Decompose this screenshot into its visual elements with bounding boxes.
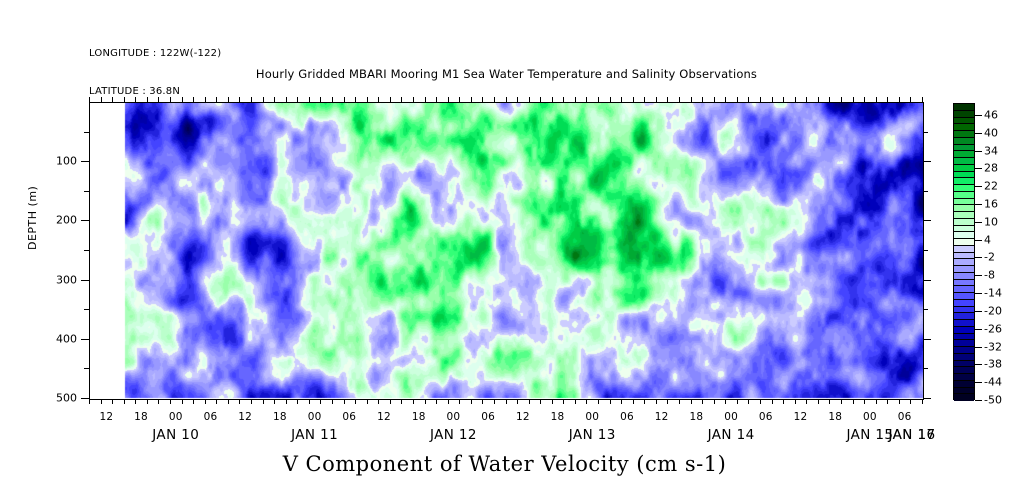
x-tick-bottom bbox=[598, 399, 599, 404]
x-tick-top bbox=[297, 97, 298, 102]
x-tick-bottom bbox=[552, 399, 553, 404]
x-tick-bottom bbox=[425, 399, 426, 404]
x-tick-top bbox=[482, 97, 483, 102]
colorbar-tick bbox=[975, 257, 982, 258]
latitude-text: LATITUDE : 36.8N bbox=[89, 86, 221, 99]
x-tick-top bbox=[818, 97, 819, 102]
x-axis-hour-label: 12 bbox=[99, 411, 113, 423]
x-tick-top bbox=[772, 97, 773, 102]
x-tick-bottom bbox=[448, 399, 449, 404]
x-tick-bottom bbox=[413, 399, 414, 404]
colorbar-band bbox=[954, 192, 974, 199]
y-tick-right bbox=[923, 161, 931, 162]
x-tick-top bbox=[853, 97, 854, 102]
colorbar-tick-label: -50 bbox=[984, 394, 1002, 407]
x-tick-top bbox=[239, 97, 240, 102]
depth-axis-label: 500 bbox=[0, 392, 77, 405]
colorbar-tick bbox=[975, 204, 982, 205]
colorbar-tick-label: -20 bbox=[984, 305, 1002, 318]
x-tick-top bbox=[760, 97, 761, 102]
x-tick-top bbox=[691, 97, 692, 102]
x-tick-bottom bbox=[679, 399, 680, 404]
x-tick-bottom bbox=[320, 399, 321, 404]
x-axis-hour-label: 00 bbox=[863, 411, 877, 423]
colorbar-tick bbox=[975, 186, 982, 187]
colorbar-band bbox=[954, 253, 974, 260]
y-tick-left bbox=[81, 339, 89, 340]
x-axis-hour-label: 12 bbox=[794, 411, 808, 423]
y-tick-left bbox=[84, 132, 89, 133]
x-tick-top bbox=[170, 97, 171, 102]
x-tick-top bbox=[367, 97, 368, 102]
colorbar-tick-label: -8 bbox=[984, 269, 995, 282]
x-tick-top bbox=[251, 97, 252, 102]
x-tick-top bbox=[586, 97, 587, 102]
x-tick-bottom bbox=[748, 399, 749, 404]
x-tick-bottom bbox=[656, 399, 657, 404]
x-tick-bottom bbox=[274, 399, 275, 404]
x-axis-date-label: JAN 11 bbox=[291, 427, 338, 443]
colorbar-band bbox=[954, 226, 974, 233]
x-tick-bottom bbox=[795, 399, 796, 404]
colorbar-tick-label: 22 bbox=[984, 180, 998, 193]
x-tick-top bbox=[459, 97, 460, 102]
x-axis-hour-label: 12 bbox=[516, 411, 530, 423]
x-tick-top bbox=[309, 97, 310, 102]
x-tick-bottom bbox=[529, 399, 530, 404]
x-tick-bottom bbox=[239, 399, 240, 404]
colorbar-tick-label: 34 bbox=[984, 145, 998, 158]
x-tick-bottom bbox=[829, 399, 830, 404]
plot-title-text: Hourly Gridded MBARI Mooring M1 Sea Wate… bbox=[256, 67, 757, 81]
x-tick-top bbox=[320, 97, 321, 102]
x-tick-top bbox=[228, 97, 229, 102]
colorbar-tick-label: -2 bbox=[984, 251, 995, 264]
colorbar-band bbox=[954, 347, 974, 354]
x-tick-bottom bbox=[876, 399, 877, 404]
x-tick-top bbox=[494, 97, 495, 102]
x-tick-bottom bbox=[124, 399, 125, 404]
colorbar-band bbox=[954, 131, 974, 138]
colorbar-tick-label: -38 bbox=[984, 358, 1002, 371]
x-tick-top bbox=[263, 97, 264, 102]
colorbar-band bbox=[954, 300, 974, 307]
x-axis-hour-label: 06 bbox=[620, 411, 634, 423]
colorbar-tick-label: 46 bbox=[984, 109, 998, 122]
x-tick-top bbox=[737, 97, 738, 102]
x-tick-bottom bbox=[297, 399, 298, 404]
x-tick-top bbox=[667, 97, 668, 102]
x-tick-bottom bbox=[864, 399, 865, 404]
colorbar-band bbox=[954, 118, 974, 125]
x-tick-bottom bbox=[563, 399, 564, 404]
x-tick-bottom bbox=[193, 399, 194, 404]
x-tick-top bbox=[378, 97, 379, 102]
x-tick-top bbox=[89, 97, 90, 102]
x-axis-date-label: JAN 14 bbox=[708, 427, 755, 443]
x-tick-top bbox=[621, 97, 622, 102]
x-tick-top bbox=[899, 97, 900, 102]
x-tick-top bbox=[575, 97, 576, 102]
x-tick-top bbox=[806, 97, 807, 102]
x-axis-hour-label: 00 bbox=[585, 411, 599, 423]
x-tick-top bbox=[413, 97, 414, 102]
colorbar-tick-label: -14 bbox=[984, 287, 1002, 300]
depth-axis-label: 400 bbox=[0, 332, 77, 345]
colorbar bbox=[953, 103, 975, 400]
x-tick-bottom bbox=[910, 399, 911, 404]
x-tick-bottom bbox=[251, 399, 252, 404]
x-tick-top bbox=[610, 97, 611, 102]
x-tick-top bbox=[598, 97, 599, 102]
colorbar-band bbox=[954, 334, 974, 341]
plot-title: Hourly Gridded MBARI Mooring M1 Sea Wate… bbox=[0, 67, 1009, 81]
x-tick-bottom bbox=[135, 399, 136, 404]
colorbar-band bbox=[954, 394, 974, 401]
colorbar-tick bbox=[975, 329, 982, 330]
colorbar-tick-label: 4 bbox=[984, 234, 991, 247]
x-tick-bottom bbox=[101, 399, 102, 404]
x-tick-bottom bbox=[691, 399, 692, 404]
x-tick-top bbox=[864, 97, 865, 102]
y-tick-right bbox=[923, 309, 928, 310]
x-tick-top bbox=[829, 97, 830, 102]
colorbar-band bbox=[954, 273, 974, 280]
colorbar-band bbox=[954, 151, 974, 158]
colorbar-band bbox=[954, 313, 974, 320]
colorbar-tick bbox=[975, 222, 982, 223]
x-tick-bottom bbox=[586, 399, 587, 404]
x-tick-top bbox=[448, 97, 449, 102]
x-axis-date-label: JAN 12 bbox=[430, 427, 477, 443]
x-tick-bottom bbox=[158, 399, 159, 404]
y-tick-right bbox=[923, 398, 931, 399]
colorbar-band bbox=[954, 199, 974, 206]
x-axis-hour-label: 18 bbox=[412, 411, 426, 423]
x-tick-bottom bbox=[205, 399, 206, 404]
colorbar-band bbox=[954, 138, 974, 145]
colorbar-tick-label: -26 bbox=[984, 323, 1002, 336]
x-tick-top bbox=[517, 97, 518, 102]
x-axis-date-label: JAN 17 bbox=[889, 427, 936, 443]
colorbar-band bbox=[954, 280, 974, 287]
x-tick-bottom bbox=[390, 399, 391, 404]
x-axis-hour-label: 00 bbox=[724, 411, 738, 423]
x-tick-bottom bbox=[216, 399, 217, 404]
x-tick-top bbox=[876, 97, 877, 102]
depth-axis-label: 300 bbox=[0, 273, 77, 286]
x-tick-bottom bbox=[344, 399, 345, 404]
colorbar-tick bbox=[975, 293, 982, 294]
colorbar-tick-label: 28 bbox=[984, 162, 998, 175]
colorbar-tick-label: 16 bbox=[984, 198, 998, 211]
x-tick-top bbox=[182, 97, 183, 102]
x-tick-top bbox=[158, 97, 159, 102]
x-tick-top bbox=[748, 97, 749, 102]
colorbar-tick bbox=[975, 275, 982, 276]
x-tick-top bbox=[702, 97, 703, 102]
colorbar-band bbox=[954, 266, 974, 273]
y-tick-left bbox=[81, 398, 89, 399]
colorbar-band bbox=[954, 320, 974, 327]
x-tick-top bbox=[922, 97, 923, 102]
x-tick-top bbox=[540, 97, 541, 102]
x-axis-hour-label: 00 bbox=[308, 411, 322, 423]
x-axis-hour-label: 18 bbox=[551, 411, 565, 423]
x-tick-top bbox=[274, 97, 275, 102]
x-tick-bottom bbox=[459, 399, 460, 404]
x-tick-top bbox=[841, 97, 842, 102]
x-axis-date-label: JAN 13 bbox=[569, 427, 616, 443]
y-tick-right bbox=[923, 368, 928, 369]
colorbar-band bbox=[954, 145, 974, 152]
colorbar-tick bbox=[975, 382, 982, 383]
x-tick-bottom bbox=[737, 399, 738, 404]
x-tick-bottom bbox=[841, 399, 842, 404]
x-axis-date-label: JAN 15 bbox=[846, 427, 893, 443]
x-tick-top bbox=[436, 97, 437, 102]
x-tick-top bbox=[644, 97, 645, 102]
x-tick-top bbox=[529, 97, 530, 102]
colorbar-tick bbox=[975, 364, 982, 365]
colorbar-band bbox=[954, 259, 974, 266]
colorbar-band bbox=[954, 219, 974, 226]
x-tick-bottom bbox=[89, 399, 90, 404]
x-tick-top bbox=[563, 97, 564, 102]
x-tick-bottom bbox=[806, 399, 807, 404]
x-axis-hour-label: 12 bbox=[655, 411, 669, 423]
x-tick-bottom bbox=[367, 399, 368, 404]
colorbar-tick bbox=[975, 400, 982, 401]
colorbar-band bbox=[954, 185, 974, 192]
colorbar-tick bbox=[975, 133, 982, 134]
x-axis-hour-label: 06 bbox=[898, 411, 912, 423]
x-tick-bottom bbox=[170, 399, 171, 404]
x-tick-top bbox=[286, 97, 287, 102]
x-tick-top bbox=[344, 97, 345, 102]
x-tick-bottom bbox=[147, 399, 148, 404]
colorbar-band bbox=[954, 239, 974, 246]
colorbar-band bbox=[954, 307, 974, 314]
colorbar-tick-label: 40 bbox=[984, 127, 998, 140]
x-tick-top bbox=[552, 97, 553, 102]
x-tick-top bbox=[425, 97, 426, 102]
x-tick-bottom bbox=[621, 399, 622, 404]
y-tick-left bbox=[81, 220, 89, 221]
y-tick-left bbox=[84, 309, 89, 310]
y-tick-left bbox=[81, 161, 89, 162]
colorbar-tick-label: -32 bbox=[984, 341, 1002, 354]
y-tick-right bbox=[923, 339, 931, 340]
x-axis-hour-label: 06 bbox=[204, 411, 218, 423]
x-tick-bottom bbox=[714, 399, 715, 404]
x-tick-top bbox=[355, 97, 356, 102]
x-axis-hour-label: 18 bbox=[690, 411, 704, 423]
x-tick-bottom bbox=[471, 399, 472, 404]
x-axis-hour-label: 06 bbox=[759, 411, 773, 423]
depth-axis-title: DEPTH (m) bbox=[26, 186, 39, 250]
x-tick-bottom bbox=[575, 399, 576, 404]
x-tick-bottom bbox=[436, 399, 437, 404]
velocity-heatmap bbox=[90, 103, 923, 399]
x-axis-hour-label: 18 bbox=[828, 411, 842, 423]
colorbar-tick bbox=[975, 347, 982, 348]
y-tick-left bbox=[84, 250, 89, 251]
colorbar-band bbox=[954, 104, 974, 111]
x-tick-top bbox=[725, 97, 726, 102]
colorbar-tick bbox=[975, 151, 982, 152]
colorbar-band bbox=[954, 158, 974, 165]
depth-axis-label: 100 bbox=[0, 155, 77, 168]
colorbar-band bbox=[954, 232, 974, 239]
x-tick-bottom bbox=[286, 399, 287, 404]
x-tick-bottom bbox=[517, 399, 518, 404]
x-tick-bottom bbox=[702, 399, 703, 404]
x-tick-bottom bbox=[610, 399, 611, 404]
x-tick-bottom bbox=[818, 399, 819, 404]
x-tick-top bbox=[193, 97, 194, 102]
colorbar-tick-label: 10 bbox=[984, 216, 998, 229]
x-tick-bottom bbox=[332, 399, 333, 404]
x-tick-top bbox=[656, 97, 657, 102]
colorbar-tick-label: -44 bbox=[984, 376, 1002, 389]
x-tick-top bbox=[101, 97, 102, 102]
x-axis-hour-label: 06 bbox=[342, 411, 356, 423]
y-tick-right bbox=[923, 132, 928, 133]
y-tick-left bbox=[84, 191, 89, 192]
x-tick-top bbox=[332, 97, 333, 102]
x-tick-top bbox=[679, 97, 680, 102]
x-tick-top bbox=[135, 97, 136, 102]
x-tick-top bbox=[633, 97, 634, 102]
x-tick-bottom bbox=[760, 399, 761, 404]
plot-area bbox=[89, 102, 924, 400]
colorbar-tick bbox=[975, 240, 982, 241]
colorbar-band bbox=[954, 340, 974, 347]
colorbar-band bbox=[954, 172, 974, 179]
x-tick-top bbox=[783, 97, 784, 102]
x-tick-bottom bbox=[783, 399, 784, 404]
colorbar-band bbox=[954, 246, 974, 253]
x-tick-bottom bbox=[112, 399, 113, 404]
x-tick-bottom bbox=[644, 399, 645, 404]
x-tick-top bbox=[714, 97, 715, 102]
x-tick-top bbox=[147, 97, 148, 102]
x-tick-bottom bbox=[887, 399, 888, 404]
x-tick-bottom bbox=[228, 399, 229, 404]
colorbar-band bbox=[954, 381, 974, 388]
x-tick-top bbox=[205, 97, 206, 102]
colorbar-band bbox=[954, 374, 974, 381]
colorbar-band bbox=[954, 212, 974, 219]
x-tick-top bbox=[795, 97, 796, 102]
longitude-text: LONGITUDE : 122W(-122) bbox=[89, 48, 221, 61]
x-tick-bottom bbox=[922, 399, 923, 404]
colorbar-tick bbox=[975, 168, 982, 169]
y-tick-right bbox=[923, 280, 931, 281]
colorbar-band bbox=[954, 293, 974, 300]
x-tick-bottom bbox=[540, 399, 541, 404]
x-axis-hour-label: 06 bbox=[481, 411, 495, 423]
colorbar-band bbox=[954, 388, 974, 395]
colorbar-band bbox=[954, 327, 974, 334]
x-axis-hour-label: 12 bbox=[238, 411, 252, 423]
colorbar-band bbox=[954, 178, 974, 185]
colorbar-band bbox=[954, 205, 974, 212]
figure-caption-text: V Component of Water Velocity (cm s-1) bbox=[283, 452, 727, 476]
x-tick-top bbox=[471, 97, 472, 102]
figure-caption: V Component of Water Velocity (cm s-1) bbox=[0, 452, 1009, 476]
colorbar-band bbox=[954, 361, 974, 368]
x-axis-hour-label: 00 bbox=[447, 411, 461, 423]
x-tick-bottom bbox=[182, 399, 183, 404]
x-tick-bottom bbox=[772, 399, 773, 404]
x-axis-hour-label: 00 bbox=[169, 411, 183, 423]
x-tick-top bbox=[910, 97, 911, 102]
y-tick-left bbox=[84, 368, 89, 369]
x-tick-top bbox=[112, 97, 113, 102]
x-tick-bottom bbox=[506, 399, 507, 404]
x-tick-top bbox=[216, 97, 217, 102]
y-tick-left bbox=[81, 280, 89, 281]
colorbar-tick bbox=[975, 311, 982, 312]
colorbar-tick bbox=[975, 115, 982, 116]
y-tick-right bbox=[923, 191, 928, 192]
x-tick-bottom bbox=[899, 399, 900, 404]
x-tick-bottom bbox=[725, 399, 726, 404]
x-tick-bottom bbox=[309, 399, 310, 404]
colorbar-band bbox=[954, 165, 974, 172]
x-tick-bottom bbox=[378, 399, 379, 404]
y-tick-right bbox=[923, 250, 928, 251]
x-axis-hour-label: 18 bbox=[134, 411, 148, 423]
y-tick-right bbox=[923, 220, 931, 221]
x-tick-bottom bbox=[667, 399, 668, 404]
colorbar-band bbox=[954, 124, 974, 131]
x-axis-date-label: JAN 10 bbox=[152, 427, 199, 443]
x-tick-top bbox=[506, 97, 507, 102]
x-tick-bottom bbox=[355, 399, 356, 404]
colorbar-band bbox=[954, 286, 974, 293]
x-axis-hour-label: 12 bbox=[377, 411, 391, 423]
colorbar-band bbox=[954, 367, 974, 374]
x-tick-bottom bbox=[494, 399, 495, 404]
x-tick-bottom bbox=[263, 399, 264, 404]
x-tick-top bbox=[390, 97, 391, 102]
x-tick-top bbox=[887, 97, 888, 102]
colorbar-band bbox=[954, 111, 974, 118]
x-tick-bottom bbox=[633, 399, 634, 404]
x-tick-bottom bbox=[482, 399, 483, 404]
x-tick-bottom bbox=[853, 399, 854, 404]
x-tick-top bbox=[401, 97, 402, 102]
x-axis-hour-label: 18 bbox=[273, 411, 287, 423]
x-tick-bottom bbox=[401, 399, 402, 404]
colorbar-band bbox=[954, 354, 974, 361]
x-tick-top bbox=[124, 97, 125, 102]
